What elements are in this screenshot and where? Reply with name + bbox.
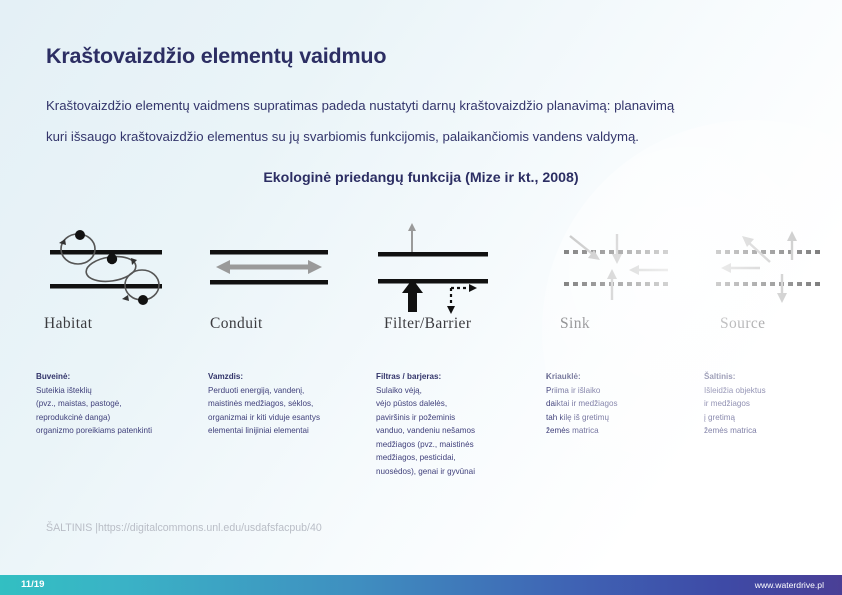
body-paragraph: Kraštovaizdžio elementų vaidmens suprati…: [46, 90, 746, 152]
caption-title: Šaltinis:: [704, 370, 842, 384]
caption-sink: Kriauklė: Priima ir išlaiko daiktai ir m…: [546, 370, 696, 438]
page-title: Kraštovaizdžio elementų vaidmuo: [46, 44, 386, 69]
caption-title: Filtras / barjeras:: [376, 370, 536, 384]
figure-column-filter-barrier: Filter/Barrier: [370, 222, 535, 333]
figure-column-source: Source: [698, 222, 842, 333]
caption-line: ir medžiagos: [704, 397, 842, 411]
caption-line: Išleidžia objektus: [704, 384, 842, 398]
icon-label-filter-barrier: Filter/Barrier: [384, 315, 535, 333]
caption-line: tah kilę iš gretimų: [546, 411, 696, 425]
page-number: 11/19: [21, 579, 44, 590]
caption-line: Sulaiko vėją,: [376, 384, 536, 398]
caption-line: reprodukcinė danga): [36, 411, 186, 425]
caption-line: daiktai ir medžiagos: [546, 397, 696, 411]
caption-line: medžiagos, pesticidai,: [376, 451, 536, 465]
icon-label-habitat: Habitat: [44, 315, 201, 333]
ecological-function-figure: Habitat Buveinė: Suteikia išteklių (pvz.…: [30, 222, 830, 492]
habitat-icon: [36, 222, 201, 307]
caption-line: elementai linijiniai elementai: [208, 424, 358, 438]
sink-icon: [540, 222, 705, 307]
caption-line: Priima ir išlaiko: [546, 384, 696, 398]
caption-filter-barrier: Filtras / barjeras: Sulaiko vėją, vėjo p…: [376, 370, 536, 478]
figure-column-conduit: Conduit: [202, 222, 367, 333]
caption-line: vanduo, vandeniu nešamos: [376, 424, 536, 438]
caption-source: Šaltinis: Išleidžia objektus ir medžiago…: [704, 370, 842, 438]
caption-habitat: Buveinė: Suteikia išteklių (pvz., maista…: [36, 370, 186, 438]
icon-label-source: Source: [720, 315, 842, 333]
caption-title: Kriauklė:: [546, 370, 696, 384]
caption-line: vėjo pūstos dalelės,: [376, 397, 536, 411]
figure-subtitle: Ekologinė priedangų funkcija (Mize ir kt…: [0, 170, 842, 186]
body-line-2: kuri išsaugo kraštovaizdžio elementus su…: [46, 121, 746, 152]
slide-canvas: Kraštovaizdžio elementų vaidmuo Kraštova…: [0, 0, 842, 595]
caption-line: (pvz., maistas, pastogė,: [36, 397, 186, 411]
icon-label-sink: Sink: [560, 315, 705, 333]
figure-column-sink: Sink: [540, 222, 705, 333]
caption-line: nuosėdos), genai ir gyvūnai: [376, 465, 536, 479]
caption-line: medžiagos (pvz., maistinės: [376, 438, 536, 452]
caption-line: žemės matrica: [704, 424, 842, 438]
source-note: ŠALTINIS |https://digitalcommons.unl.edu…: [46, 522, 322, 534]
caption-line: Perduoti energiją, vandenį,: [208, 384, 358, 398]
caption-line: žemės matrica: [546, 424, 696, 438]
body-line-1: Kraštovaizdžio elementų vaidmens suprati…: [46, 90, 746, 121]
caption-line: paviršinis ir požeminis: [376, 411, 536, 425]
figure-column-habitat: Habitat: [36, 222, 201, 333]
conduit-icon: [202, 222, 367, 307]
caption-conduit: Vamzdis: Perduoti energiją, vandenį, mai…: [208, 370, 358, 438]
caption-line: į gretimą: [704, 411, 842, 425]
source-icon: [698, 222, 842, 307]
footer-website-link[interactable]: www.waterdrive.pl: [755, 580, 824, 590]
filter-barrier-icon: [370, 222, 535, 307]
caption-title: Vamzdis:: [208, 370, 358, 384]
caption-line: maistinės medžiagos, sėklos,: [208, 397, 358, 411]
caption-line: Suteikia išteklių: [36, 384, 186, 398]
icon-label-conduit: Conduit: [210, 315, 367, 333]
caption-line: organizmai ir kiti viduje esantys: [208, 411, 358, 425]
footer-bar: 11/19 www.waterdrive.pl: [0, 575, 842, 595]
caption-line: organizmo poreikiams patenkinti: [36, 424, 186, 438]
caption-title: Buveinė:: [36, 370, 186, 384]
